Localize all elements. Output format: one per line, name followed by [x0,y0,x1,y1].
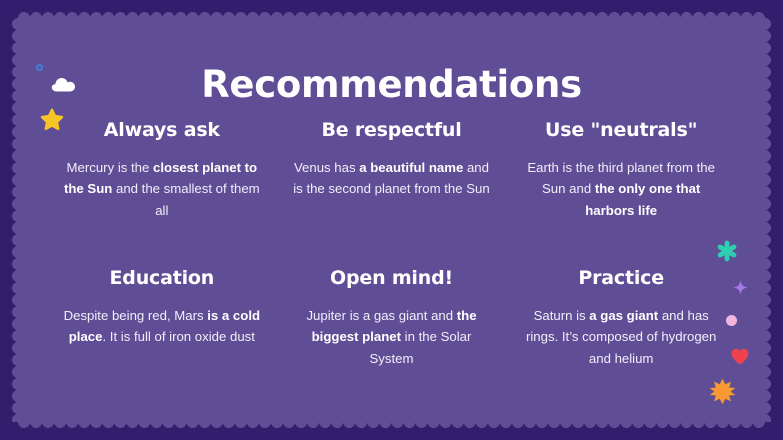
recommendation-card-3: Use "neutrals" Earth is the third planet… [513,120,729,268]
card-body: Earth is the third planet from the Sun a… [519,157,723,221]
card-body: Jupiter is a gas giant and the biggest p… [290,305,494,369]
cloud-icon [51,76,77,92]
recommendations-grid: Always ask Mercury is the closest planet… [54,120,729,416]
scalloped-panel: Recommendations Always ask Mercury is th… [18,18,765,422]
sun-icon [709,378,736,405]
recommendation-card-6: Practice Saturn is a gas giant and has r… [513,268,729,416]
card-heading: Education [60,268,264,289]
card-body: Despite being red, Mars is a cold place.… [60,305,264,348]
sparkle-icon [733,280,748,295]
dot-icon [726,315,737,326]
recommendation-card-5: Open mind! Jupiter is a gas giant and th… [284,268,500,416]
card-body: Venus has a beautiful name and is the se… [290,157,494,200]
flower-icon [716,240,738,262]
recommendation-card-1: Always ask Mercury is the closest planet… [54,120,270,268]
recommendation-card-4: Education Despite being red, Mars is a c… [54,268,270,416]
card-heading: Use "neutrals" [519,120,723,141]
card-heading: Open mind! [290,268,494,289]
card-body: Mercury is the closest planet to the Sun… [60,157,264,221]
page-title: Recommendations [18,66,765,103]
card-body: Saturn is a gas giant and has rings. It’… [519,305,723,369]
card-heading: Always ask [60,120,264,141]
star-icon [40,108,64,132]
slide: Recommendations Always ask Mercury is th… [0,0,783,440]
heart-icon [731,348,749,365]
recommendation-card-2: Be respectful Venus has a beautiful name… [284,120,500,268]
circle-outline-icon [36,64,43,71]
card-heading: Be respectful [290,120,494,141]
card-heading: Practice [519,268,723,289]
